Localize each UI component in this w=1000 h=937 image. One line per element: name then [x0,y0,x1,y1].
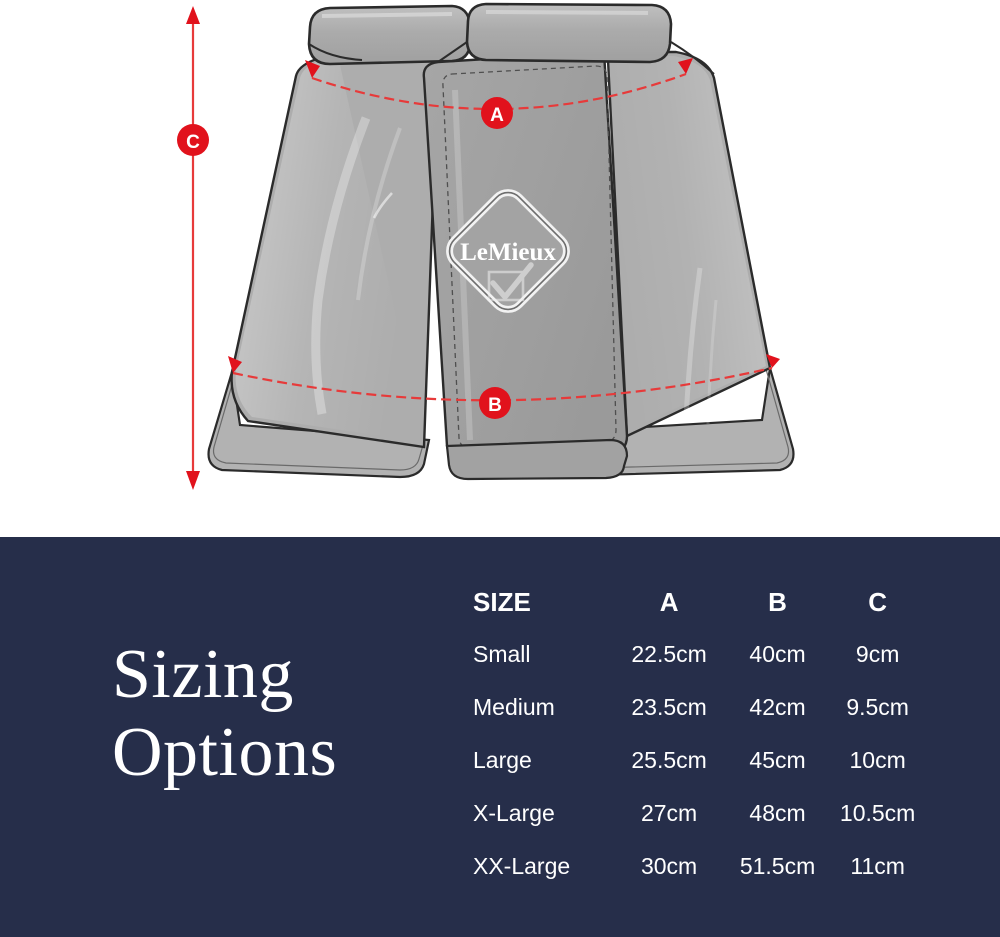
measure-c-arrow-bottom [186,471,200,490]
table-row: X-Large 27cm 48cm 10.5cm [462,787,924,840]
sizing-options-heading: Sizing Options [112,636,452,792]
flap-lower-tab [447,440,627,479]
measure-c-arrow-top [186,6,200,24]
cell-b: 48cm [724,787,832,840]
sizing-heading-line-2: Options [112,714,452,792]
table-row: Large 25.5cm 45cm 10cm [462,734,924,787]
sizing-guide-page: LeMieux [0,0,1000,937]
cell-c: 9.5cm [831,681,924,734]
table-header-row: SIZE A B C [462,576,924,628]
size-chart-body: Small 22.5cm 40cm 9cm Medium 23.5cm 42cm… [462,628,924,893]
measure-a-label: A [490,105,504,126]
cell-size: Small [462,628,614,681]
cell-a: 23.5cm [614,681,723,734]
cell-c: 10cm [831,734,924,787]
cell-c: 10.5cm [831,787,924,840]
size-chart-head: SIZE A B C [462,576,924,628]
cell-b: 45cm [724,734,832,787]
closure-flap: LeMieux [424,52,627,479]
cell-c: 11cm [831,840,924,893]
table-row: Medium 23.5cm 42cm 9.5cm [462,681,924,734]
column-header-a: A [614,576,723,628]
cell-c: 9cm [831,628,924,681]
sizing-heading-line-1: Sizing [112,636,452,714]
measure-c: C [177,6,209,490]
cell-b: 40cm [724,628,832,681]
cell-size: Large [462,734,614,787]
badge-logo-text: LeMieux [460,239,556,266]
product-diagram-panel: LeMieux [0,0,1000,537]
cell-a: 27cm [614,787,723,840]
measure-c-label: C [186,132,200,153]
roll-band-right-highlight [486,12,648,13]
cell-b: 42cm [724,681,832,734]
table-row: XX-Large 30cm 51.5cm 11cm [462,840,924,893]
table-row: Small 22.5cm 40cm 9cm [462,628,924,681]
cell-a: 30cm [614,840,723,893]
right-panel-sheen [606,56,766,432]
roll-band-left-highlight [322,14,452,16]
column-header-b: B [724,576,832,628]
measure-b-label: B [488,395,502,416]
cell-size: XX-Large [462,840,614,893]
cell-b: 51.5cm [724,840,832,893]
column-header-c: C [831,576,924,628]
over-reach-boot-diagram: LeMieux [0,0,1000,537]
cell-size: Medium [462,681,614,734]
cell-size: X-Large [462,787,614,840]
cell-a: 22.5cm [614,628,723,681]
cell-a: 25.5cm [614,734,723,787]
column-header-size: SIZE [462,576,614,628]
size-chart-table: SIZE A B C Small 22.5cm 40cm 9cm Medium … [462,576,924,893]
